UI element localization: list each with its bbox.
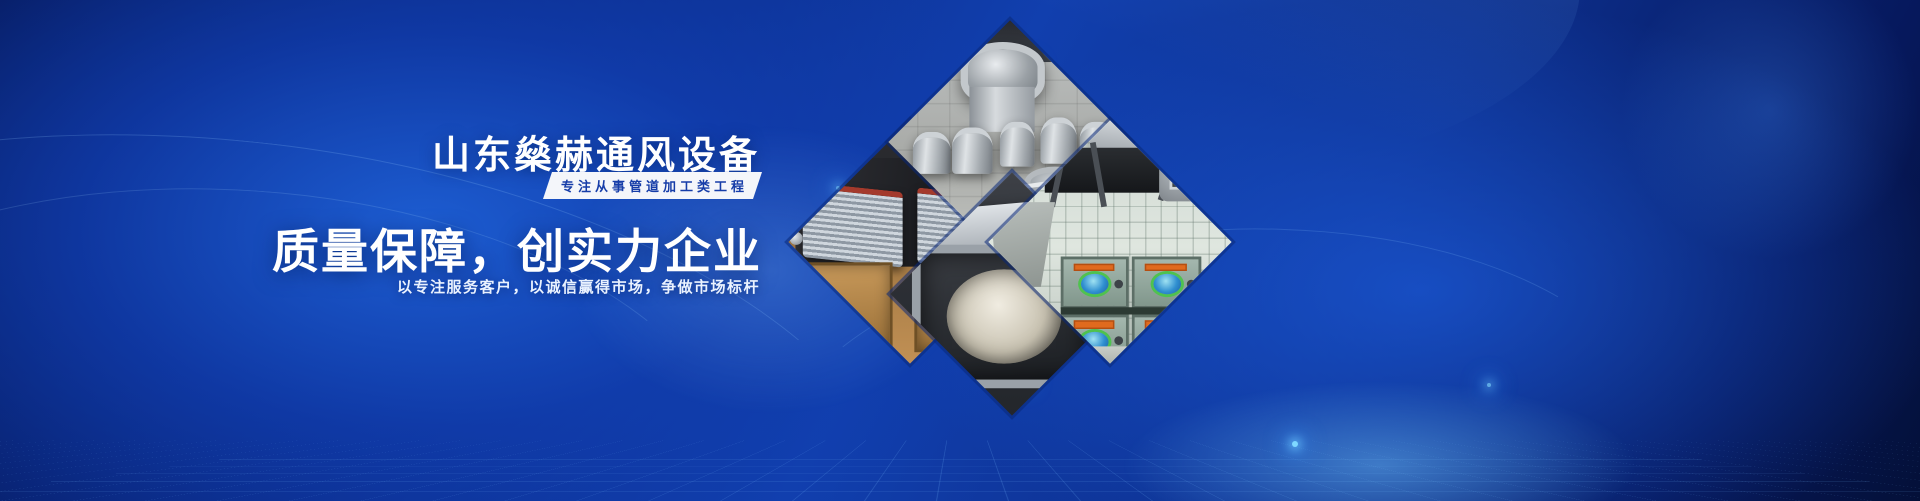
banner-subtitle: 以专注服务客户，以诚信赢得市场，争做市场标杆 [397,276,760,297]
banner-headline: 质量保障，创实力企业 [272,213,762,282]
tagline-badge-text: 专注从事管道加工类工程 [561,176,748,195]
banner-copy: 山东燊赫通风设备 专注从事管道加工类工程 质量保障，创实力企业 以专注服务客户，… [0,0,790,501]
hero-banner: 山东燊赫通风设备 专注从事管道加工类工程 质量保障，创实力企业 以专注服务客户，… [0,0,1920,501]
company-title: 山东燊赫通风设备 [432,124,760,179]
tagline-badge: 专注从事管道加工类工程 [543,172,762,199]
sparkle-dot-4 [1487,383,1491,387]
sparkle-dot-2 [1292,441,1298,447]
glow-right [1620,0,1920,260]
photo-collage [800,40,1240,370]
